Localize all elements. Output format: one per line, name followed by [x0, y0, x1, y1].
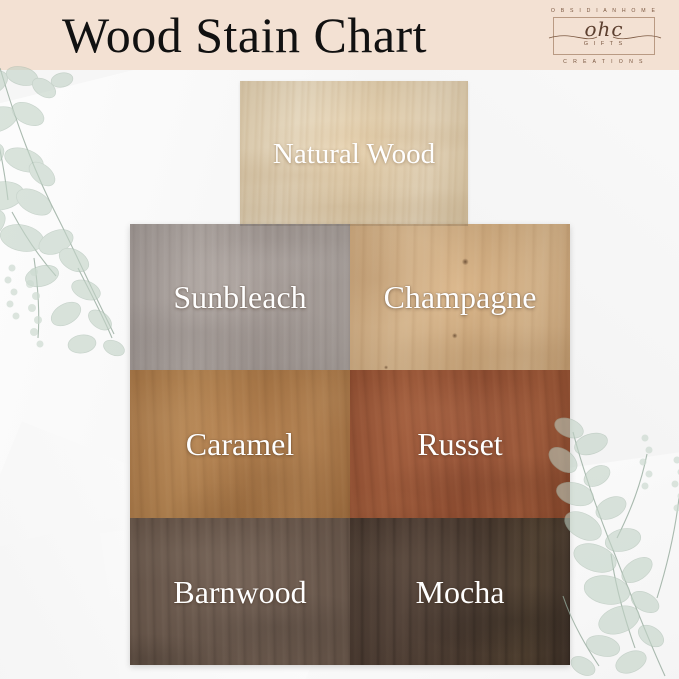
swatch-label-caramel: Caramel: [130, 427, 350, 461]
swatch-label-champagne: Champagne: [350, 280, 570, 314]
brand-logo: O B S I D I A N H O M E ohc G I F T S C …: [541, 5, 667, 67]
logo-top-text: O B S I D I A N H O M E: [541, 8, 667, 14]
swatch-label-natural-wood: Natural Wood: [240, 137, 468, 171]
swatch-natural-wood[interactable]: Natural Wood: [240, 81, 468, 226]
page-title: Wood Stain Chart: [62, 2, 427, 68]
swatch-label-mocha: Mocha: [350, 575, 570, 609]
swatch-label-sunbleach: Sunbleach: [130, 280, 350, 314]
wood-stain-chart-page: Wood Stain Chart O B S I D I A N H O M E…: [0, 0, 679, 679]
stain-swatch-grid: Sunbleach Champagne Caramel Russet Barnw…: [130, 224, 570, 665]
swatch-sunbleach[interactable]: Sunbleach: [130, 224, 350, 370]
logo-gifts-text: G I F T S: [541, 41, 667, 47]
swatch-mocha[interactable]: Mocha: [350, 518, 570, 665]
swatch-label-barnwood: Barnwood: [130, 575, 350, 609]
swatch-russet[interactable]: Russet: [350, 370, 570, 518]
swatch-barnwood[interactable]: Barnwood: [130, 518, 350, 665]
swatch-caramel[interactable]: Caramel: [130, 370, 350, 518]
logo-monogram: ohc: [541, 19, 667, 39]
header-band: Wood Stain Chart O B S I D I A N H O M E…: [0, 0, 679, 70]
swatch-label-russet: Russet: [350, 427, 570, 461]
swatch-champagne[interactable]: Champagne: [350, 224, 570, 370]
logo-bottom-text: C R E A T I O N S: [541, 59, 667, 65]
